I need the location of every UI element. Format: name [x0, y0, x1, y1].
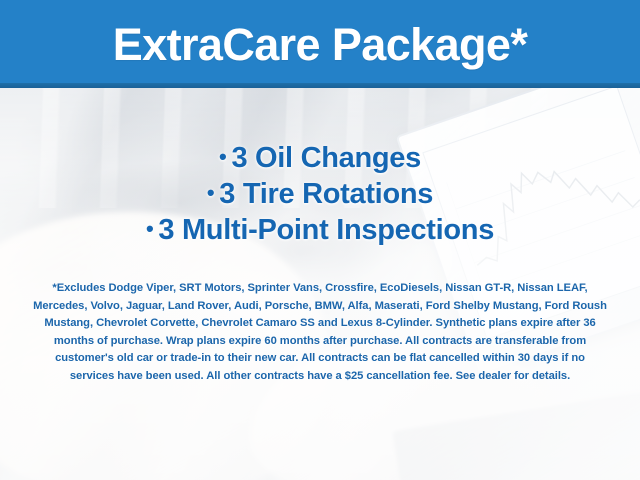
benefits-list: •3 Oil Changes •3 Tire Rotations •3 Mult…	[0, 140, 640, 248]
benefit-item-tire-rotations: •3 Tire Rotations	[0, 176, 640, 212]
benefit-item-oil-changes: •3 Oil Changes	[0, 140, 640, 176]
extracare-package-ad: ExtraCare Package*	[0, 0, 640, 480]
page-title: ExtraCare Package*	[113, 22, 527, 67]
bullet-icon: •	[207, 182, 214, 204]
disclaimer-text: *Excludes Dodge Viper, SRT Motors, Sprin…	[32, 280, 608, 386]
header-banner: ExtraCare Package*	[0, 0, 640, 88]
benefit-label: 3 Multi-Point Inspections	[158, 214, 494, 246]
bullet-icon: •	[146, 218, 153, 240]
benefit-label: 3 Oil Changes	[231, 142, 421, 174]
benefit-item-multi-point-inspections: •3 Multi-Point Inspections	[0, 212, 640, 248]
bullet-icon: •	[219, 146, 226, 168]
benefit-label: 3 Tire Rotations	[219, 178, 433, 210]
content-area: •3 Oil Changes •3 Tire Rotations •3 Mult…	[0, 88, 640, 480]
